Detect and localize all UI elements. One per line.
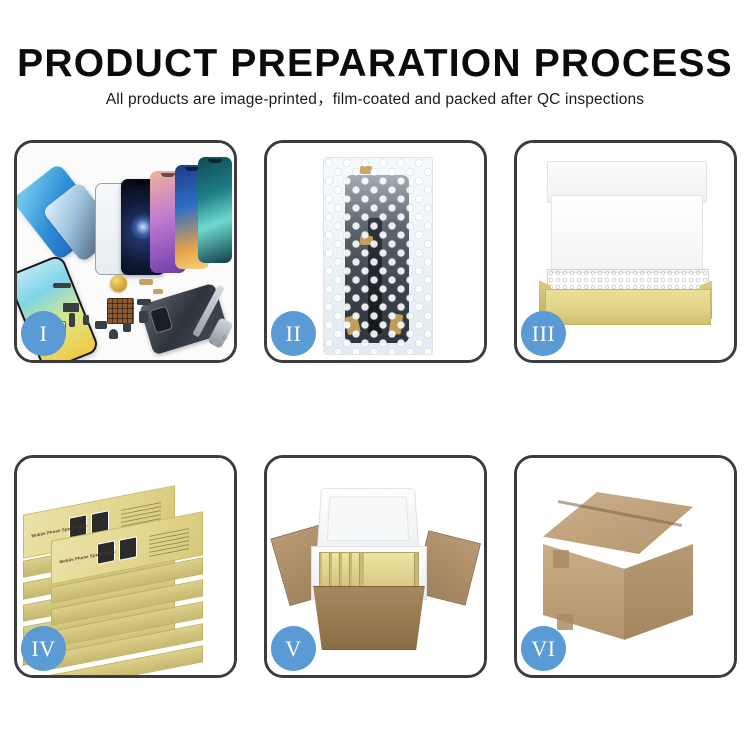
notch-icon [161, 173, 175, 177]
foam-lid-inset [327, 496, 410, 541]
white-foam-sheet [551, 195, 703, 273]
step-numeral: IV [31, 636, 55, 662]
step-2-image: II [267, 143, 484, 360]
bubble-wrap-bag [323, 157, 433, 355]
process-step-grid: I II [0, 0, 750, 750]
step-1-image: I [17, 143, 234, 360]
spare-part-icon [139, 279, 153, 285]
notch-icon [185, 167, 199, 171]
chip-array-icon [107, 298, 134, 324]
carton-right-face [624, 544, 693, 640]
vibration-motor-icon [110, 275, 127, 292]
carton-tape-upper [553, 550, 569, 568]
spare-part-icon [123, 323, 131, 332]
notch-icon [208, 159, 222, 163]
process-step-5[interactable]: V [264, 455, 487, 678]
step-numeral: I [40, 321, 48, 347]
process-step-6[interactable]: VI [514, 455, 737, 678]
process-step-3[interactable]: III [514, 140, 737, 363]
carton-front-wall [307, 586, 431, 650]
product-preparation-infographic: PRODUCT PREPARATION PROCESS All products… [0, 0, 750, 750]
spare-part-icon [63, 303, 79, 312]
step-4-image: Mobile Phone Spare Parts Mobile Phone Sp… [17, 458, 234, 675]
step-numeral: VI [531, 636, 555, 662]
spare-part-icon [137, 299, 151, 305]
spare-part-icon [109, 329, 118, 339]
spare-part-icon [222, 335, 227, 340]
step-badge-3: III [521, 311, 566, 356]
spare-part-icon [139, 311, 148, 323]
spare-part-icon [69, 313, 75, 327]
kraft-box-front [545, 289, 711, 325]
phone-display-teal-icon [198, 157, 232, 263]
step-badge-2: II [271, 311, 316, 356]
spare-part-icon [153, 289, 163, 294]
bubble-texture [324, 158, 432, 354]
spare-part-icon [95, 321, 107, 329]
step-badge-6: VI [521, 626, 566, 671]
step-badge-5: V [271, 626, 316, 671]
step-5-image: V [267, 458, 484, 675]
notch-icon [136, 181, 150, 185]
process-step-2[interactable]: II [264, 140, 487, 363]
spare-part-icon [213, 339, 219, 345]
foam-lid [317, 488, 419, 550]
step-badge-1: I [21, 311, 66, 356]
process-step-1[interactable]: I [14, 140, 237, 363]
step-6-image: VI [517, 458, 734, 675]
step-numeral: III [532, 321, 555, 347]
carton-tape-lower [557, 614, 573, 630]
step-numeral: V [285, 636, 301, 662]
product-window [119, 536, 137, 560]
step-3-image: III [517, 143, 734, 360]
step-numeral: II [286, 321, 302, 347]
spare-part-icon [83, 315, 89, 325]
step-badge-4: IV [21, 626, 66, 671]
spare-part-icon [53, 283, 71, 288]
process-step-4[interactable]: Mobile Phone Spare Parts Mobile Phone Sp… [14, 455, 237, 678]
